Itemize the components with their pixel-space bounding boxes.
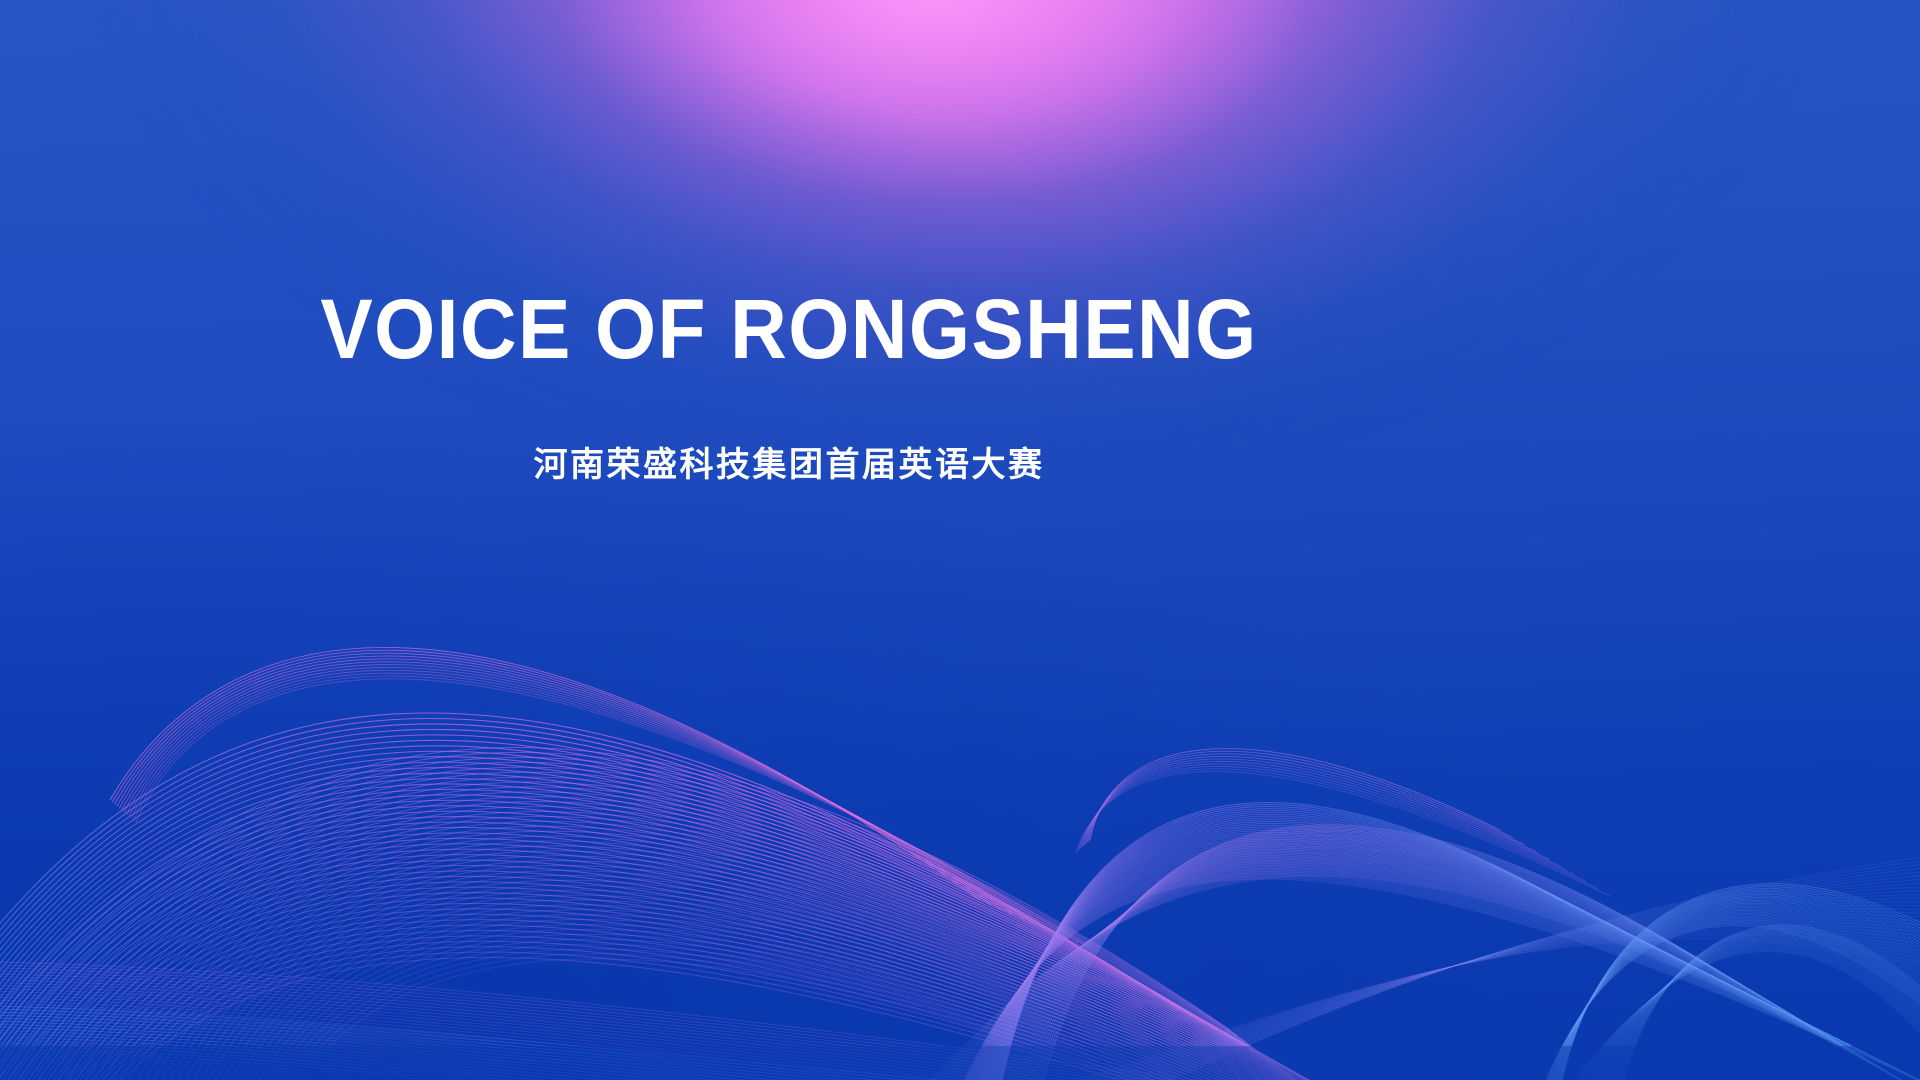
wave-mesh-decoration	[0, 0, 1920, 1080]
poster-canvas: VOICE OF RONGSHENG 河南荣盛科技集团首届英语大赛	[0, 0, 1920, 1080]
